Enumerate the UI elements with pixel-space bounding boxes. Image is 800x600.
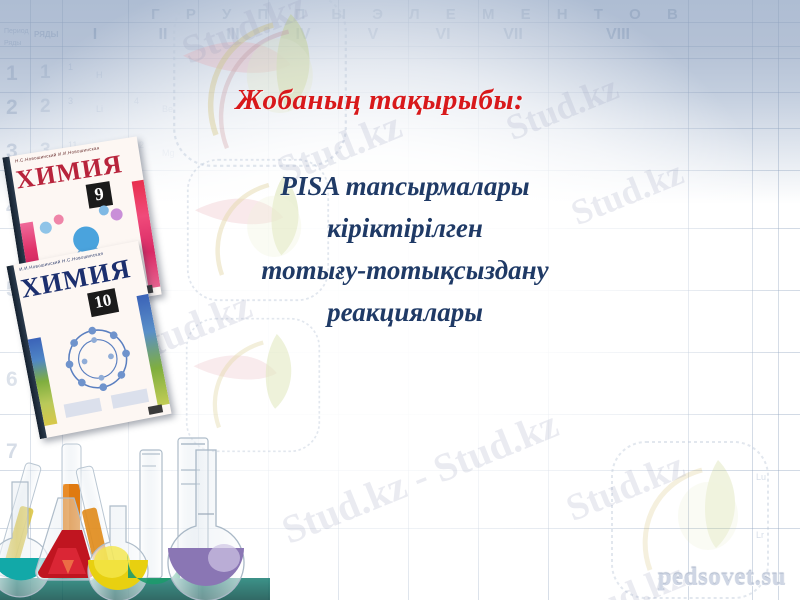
group-header-vii: VII xyxy=(478,26,548,44)
body-line-2: кіріктірілген xyxy=(175,207,635,249)
body-line-1: PISA тапсырмалары xyxy=(175,165,635,207)
group-header-i: I xyxy=(62,26,128,44)
body-line-3: тотығу-тотықсыздану xyxy=(175,249,635,291)
body-line-4: реакциялары xyxy=(175,291,635,333)
table-cell-symbol: Mg xyxy=(162,148,175,158)
table-cell-symbol: Lu xyxy=(756,472,766,482)
laboratory-glassware-illustration xyxy=(0,410,270,600)
table-cell-number: 1 xyxy=(68,62,73,72)
group-header-vi: VI xyxy=(408,26,478,44)
group-header-ii: II xyxy=(128,26,198,44)
molecule-diagram-icon xyxy=(42,306,155,422)
periodic-table-header: Г Р У П П Ы Э Л Е М Е Н Т О В xyxy=(140,6,700,23)
book-title: ХИМИЯ xyxy=(14,147,141,196)
series-row-2: 2 xyxy=(40,96,51,118)
table-cell-symbol: Lr xyxy=(756,530,764,540)
period-row-6: 6 xyxy=(6,368,18,392)
period-row-1: 1 xyxy=(6,62,18,86)
group-header-iv: IV xyxy=(268,26,338,44)
presentation-slide: Г Р У П П Ы Э Л Е М Е Н Т О В Период Ряд… xyxy=(0,0,800,600)
slide-title: Жобаның тақырыбы: xyxy=(120,84,640,117)
series-row-1: 1 xyxy=(40,62,51,84)
table-corner-rows-label: Ряды xyxy=(4,40,21,47)
group-header-v: V xyxy=(338,26,408,44)
table-cell-number: 3 xyxy=(68,96,73,106)
group-header-viii: VIII xyxy=(548,26,688,44)
period-row-2: 2 xyxy=(6,96,18,120)
slide-body: PISA тапсырмалары кіріктірілген тотығу-т… xyxy=(175,165,635,333)
group-header-iii: III xyxy=(198,26,268,44)
table-rows-header: РЯДЫ xyxy=(34,30,58,39)
table-corner-period-label: Период xyxy=(4,28,29,35)
table-cell-symbol: H xyxy=(96,70,103,80)
table-cell-symbol: Li xyxy=(96,104,103,114)
